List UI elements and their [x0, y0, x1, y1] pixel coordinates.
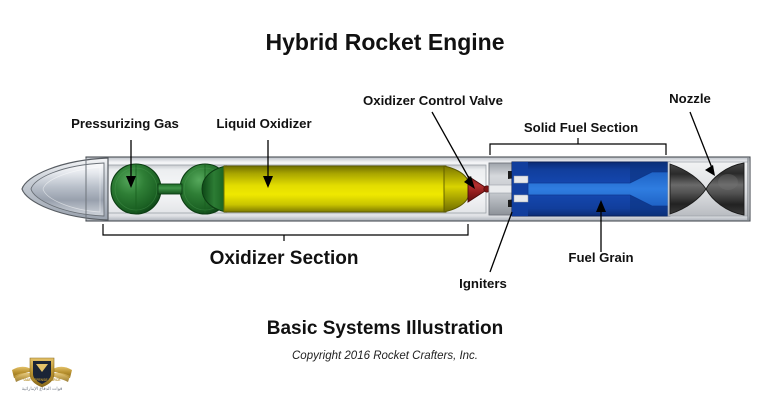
- label-liquid-oxidizer: Liquid Oxidizer: [216, 116, 311, 131]
- logo-text-ar: قوات الدفاع الإماراتية: [22, 386, 63, 392]
- uae-defense-force-logo: UAE DEFENSE FORCE قوات الدفاع الإماراتية: [12, 358, 72, 392]
- bracket-oxidizer-section: [103, 224, 468, 241]
- diagram-canvas: Hybrid Rocket Engine: [0, 0, 770, 400]
- label-igniters: Igniters: [459, 276, 507, 291]
- label-nozzle: Nozzle: [669, 91, 711, 106]
- label-pressurizing-gas: Pressurizing Gas: [71, 116, 179, 131]
- oxidizer-tank-body: [224, 166, 446, 212]
- bracket-solid-fuel-section: [490, 138, 666, 155]
- nose-cone: [22, 158, 108, 220]
- copyright-notice: Copyright 2016 Rocket Crafters, Inc.: [292, 350, 478, 362]
- page-subtitle: Basic Systems Illustration: [267, 318, 504, 339]
- liquid-oxidizer-tank: [202, 166, 470, 212]
- label-oxidizer-control-valve: Oxidizer Control Valve: [363, 93, 503, 108]
- label-oxidizer-section: Oxidizer Section: [210, 248, 359, 269]
- solid-fuel-grain: [512, 162, 670, 216]
- gas-tank-connector-pipe: [158, 184, 182, 194]
- label-fuel-grain: Fuel Grain: [568, 250, 633, 265]
- page-title: Hybrid Rocket Engine: [266, 29, 505, 55]
- label-solid-fuel-section: Solid Fuel Section: [524, 120, 638, 135]
- nozzle: [668, 158, 748, 220]
- logo-text-en: UAE DEFENSE FORCE: [24, 378, 62, 382]
